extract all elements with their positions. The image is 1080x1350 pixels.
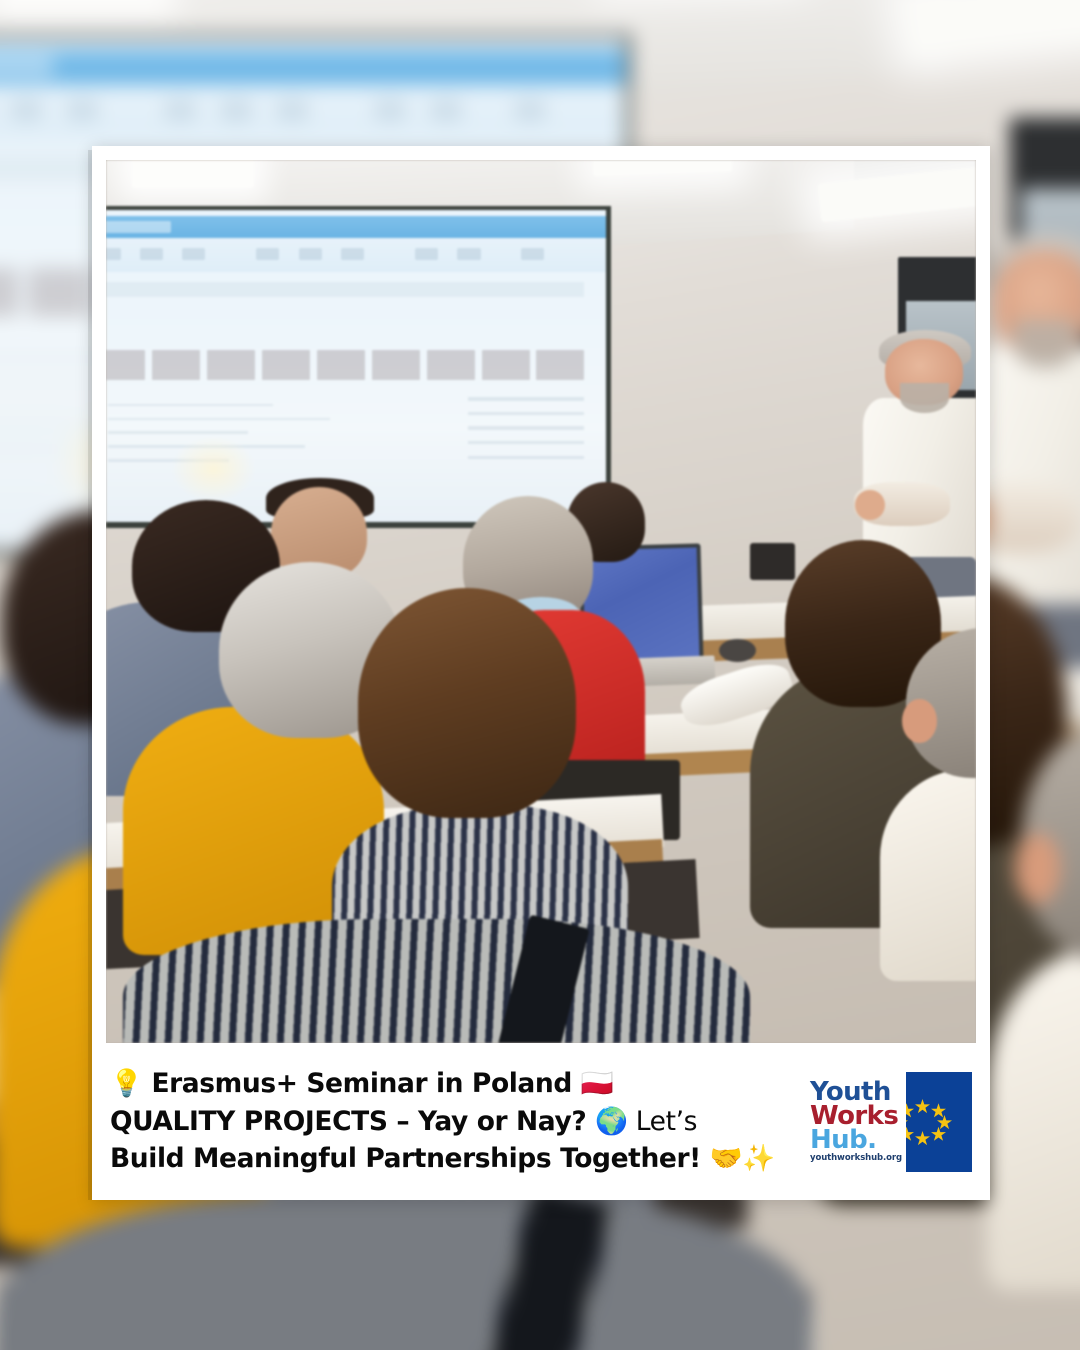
globe-icon: 🌍 Let’s [595,1106,697,1137]
light-bulb-icon: 💡 [110,1068,143,1099]
slide-text-lines [108,404,426,491]
brand-line-hub: Hub. [810,1128,902,1152]
equipment-box [750,543,795,580]
slide-row [106,282,584,298]
european-union-flag-icon [906,1072,972,1172]
presenter-beard [1013,320,1077,369]
projector-glow [171,435,256,504]
presenter-hand [855,490,885,520]
ceiling-light-icon [2,0,162,5]
brand-lockup[interactable]: Youth Works Hub. youthworkshub.org [810,1072,976,1172]
poland-flag-icon: 🇵🇱 [581,1068,614,1099]
post-card: 💡 Erasmus+ Seminar in Poland 🇵🇱 QUALITY … [92,146,990,1200]
caption-line-3-text: Build Meaningful Partnerships Together! [110,1143,710,1174]
handshake-sparkles-icon: 🤝✨ [710,1143,775,1174]
caption-text: 💡 Erasmus+ Seminar in Poland 🇵🇱 QUALITY … [110,1065,810,1178]
card-photo [106,160,976,1043]
caption-line-1-text: Erasmus+ Seminar in Poland [151,1068,580,1099]
presenter-beard [900,383,949,413]
slide-cells [106,350,584,380]
classroom-scene [106,160,976,1043]
caption-bar: 💡 Erasmus+ Seminar in Poland 🇵🇱 QUALITY … [92,1043,990,1200]
foreground-striped-shirt [123,919,749,1043]
slide-toolbar [106,238,606,272]
brand-wordmark: Youth Works Hub. youthworkshub.org [810,1080,902,1163]
attendee-head [358,588,576,818]
slide-title-bar [106,216,606,238]
attendee-ear [1015,832,1061,904]
brand-url[interactable]: youthworkshub.org [810,1155,902,1163]
caption-line-2-text: QUALITY PROJECTS – Yay or Nay? [110,1106,595,1137]
slide-side-lines [468,397,584,478]
ceiling-light-icon [132,160,254,188]
caption-line-2: QUALITY PROJECTS – Yay or Nay? 🌍 Let’s [110,1103,810,1141]
attendee-ear [902,699,937,743]
caption-line-3: Build Meaningful Partnerships Together! … [110,1140,810,1178]
caption-line-1: 💡 Erasmus+ Seminar in Poland 🇵🇱 [110,1065,810,1103]
slide-title-bar [0,48,626,84]
mouse [719,639,756,662]
projection-screen-frame [106,206,611,528]
projection-screen [106,210,606,522]
slide-toolbar [0,84,626,140]
